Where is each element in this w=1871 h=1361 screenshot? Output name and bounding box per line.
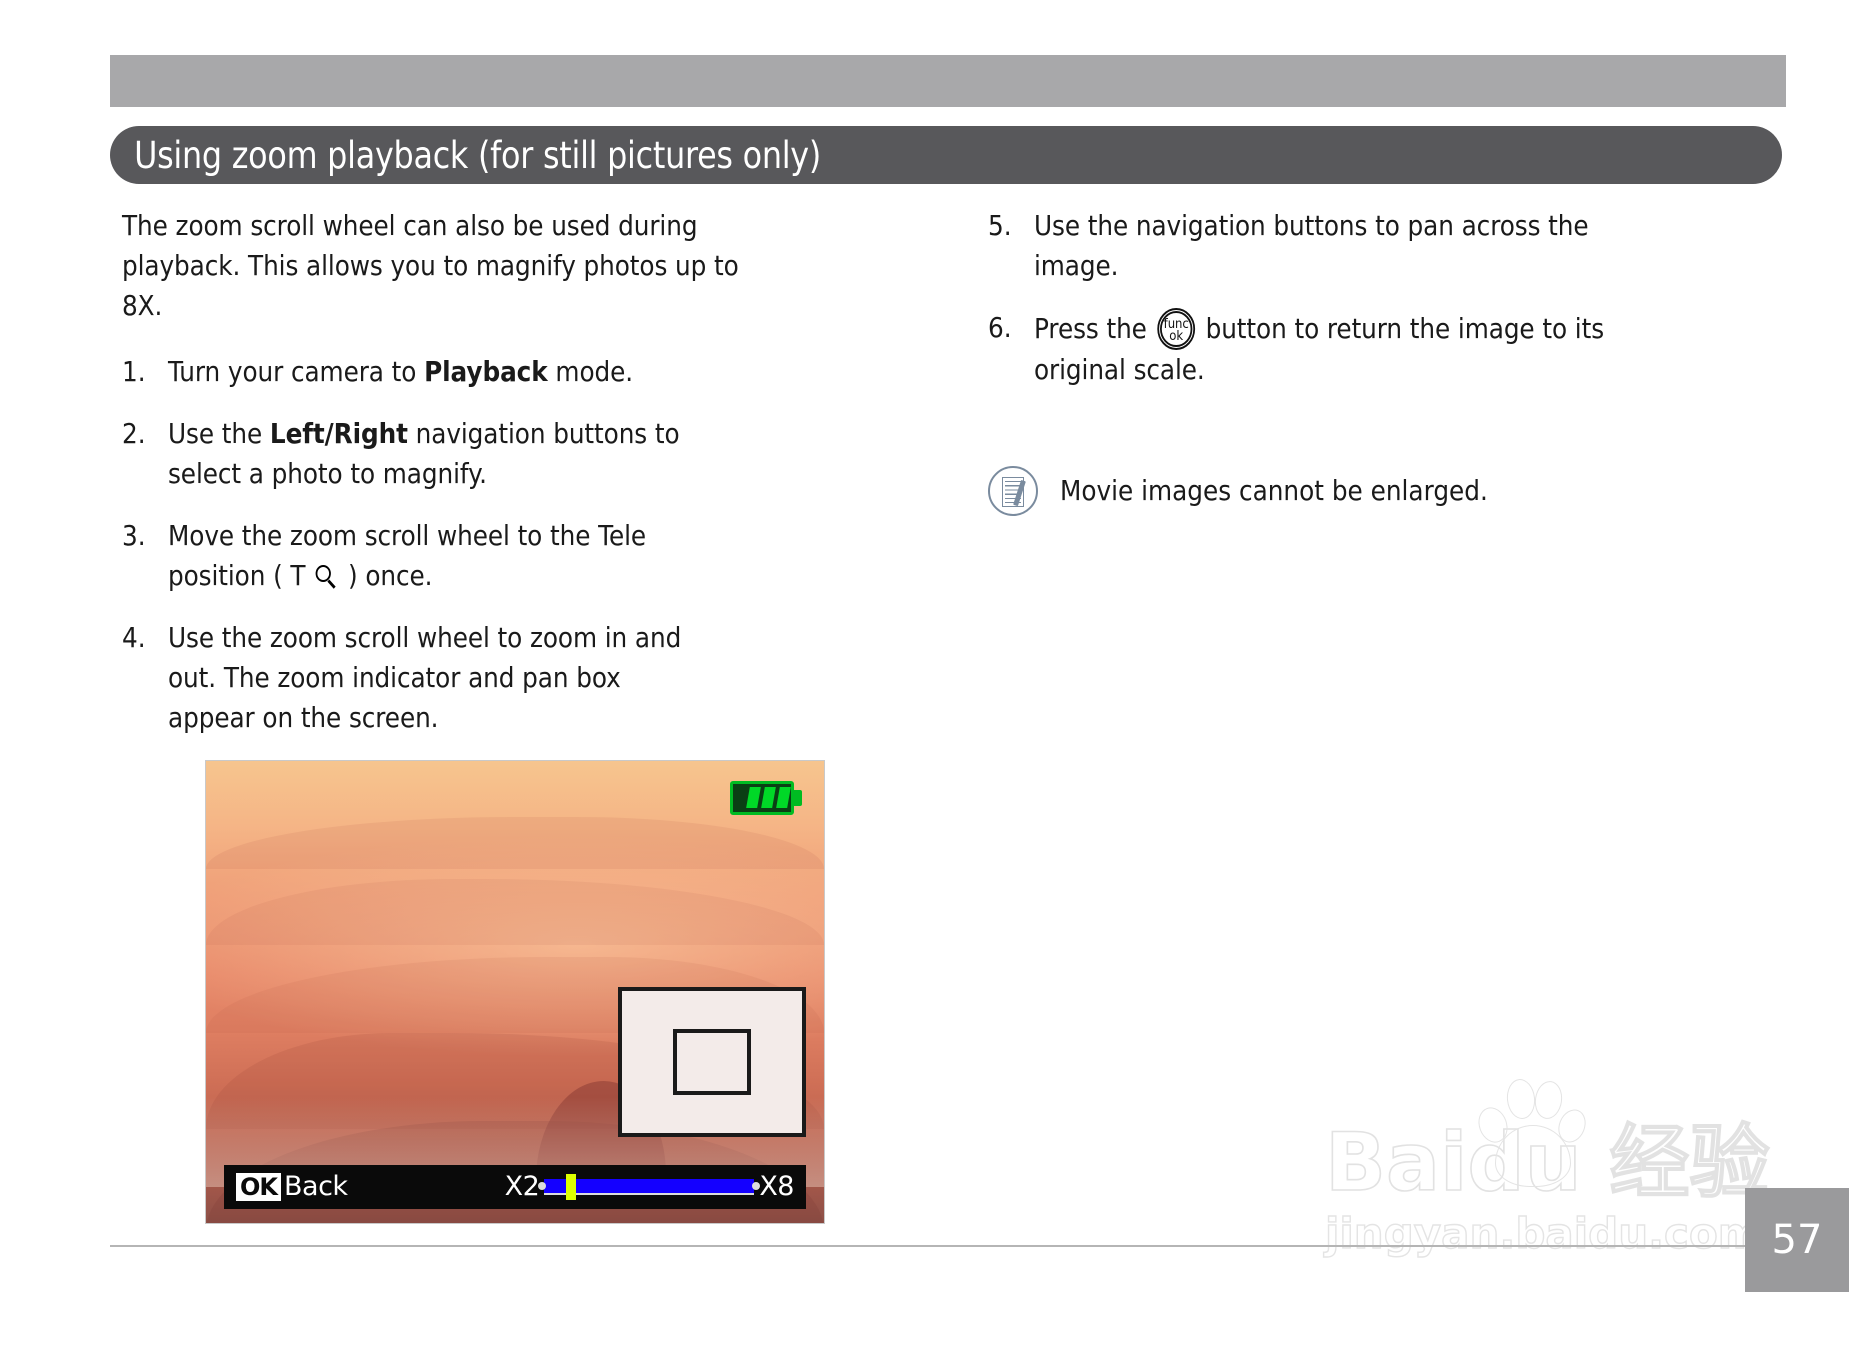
step-text-bold: Left/Right <box>270 418 408 450</box>
intro-paragraph: The zoom scroll wheel can also be used d… <box>122 206 761 326</box>
steps-list-right: 5. Use the navigation buttons to pan acr… <box>988 206 1688 390</box>
baidu-watermark: Baidu 经验 jingyan.baidu.com <box>1325 1075 1795 1290</box>
watermark-brand: Baidu 经验 <box>1325 1123 1769 1203</box>
step-number: 1. <box>122 352 163 392</box>
right-column: 5. Use the navigation buttons to pan acr… <box>988 206 1688 390</box>
step-text-after: mode. <box>548 356 633 388</box>
zoom-slider-track[interactable] <box>544 1179 754 1195</box>
step-text: Use the zoom scroll wheel to zoom in and… <box>168 618 703 738</box>
step-text-before: Use the <box>168 418 270 450</box>
pan-box-inner-frame <box>673 1029 751 1095</box>
zoom-min-label: X2 <box>505 1172 540 1202</box>
list-item: 2. Use the Left/Right navigation buttons… <box>122 414 762 494</box>
step-text: Move the zoom scroll wheel to the Tele p… <box>168 516 703 596</box>
pan-box-indicator <box>618 987 806 1137</box>
mountain-ridge <box>206 817 824 869</box>
step-text-before: Press the <box>1034 313 1155 345</box>
note-text: Movie images cannot be enlarged. <box>1060 473 1488 509</box>
steps-list-left: 1. Turn your camera to Playback mode. 2.… <box>122 352 762 738</box>
list-item: 6. Press the funcok button to return the… <box>988 308 1688 390</box>
step-text-before: Turn your camera to <box>168 356 424 388</box>
left-column: The zoom scroll wheel can also be used d… <box>122 206 762 738</box>
footer-divider <box>110 1245 1786 1247</box>
step-text: Press the funcok button to return the im… <box>1034 308 1623 390</box>
camera-lcd-screenshot: OK Back X2 X8 <box>205 760 825 1224</box>
list-item: 3. Move the zoom scroll wheel to the Tel… <box>122 516 762 596</box>
zoom-slider-thumb[interactable] <box>566 1174 576 1200</box>
page-title-banner: Using zoom playback (for still pictures … <box>110 126 1782 184</box>
step-number: 6. <box>988 308 1029 390</box>
step-number: 4. <box>122 618 163 738</box>
ok-badge: OK <box>236 1173 281 1201</box>
step-text-bold: Playback <box>424 356 548 388</box>
zoom-max-label: X8 <box>759 1172 794 1202</box>
watermark-url: jingyan.baidu.com <box>1325 1213 1762 1255</box>
note-callout: Movie images cannot be enlarged. <box>988 466 1535 516</box>
step-text: Use the Left/Right navigation buttons to… <box>168 414 703 494</box>
zoom-indicator: X2 X8 <box>505 1172 794 1202</box>
mountain-ridge <box>206 879 824 945</box>
header-decorative-bar <box>110 55 1786 107</box>
step-number: 3. <box>122 516 163 596</box>
magnifier-icon <box>315 564 338 590</box>
baidu-paw-icon <box>1477 1075 1583 1187</box>
lcd-status-bar: OK Back X2 X8 <box>224 1165 806 1209</box>
step-text-after: ) once. <box>340 560 432 592</box>
notepad-icon <box>988 466 1038 516</box>
func-ok-button-icon: funcok <box>1157 308 1195 350</box>
step-text: Turn your camera to Playback mode. <box>168 352 703 392</box>
step-number: 5. <box>988 206 1029 286</box>
list-item: 1. Turn your camera to Playback mode. <box>122 352 762 392</box>
page-title: Using zoom playback (for still pictures … <box>110 134 821 177</box>
step-number: 2. <box>122 414 163 494</box>
list-item: 4. Use the zoom scroll wheel to zoom in … <box>122 618 762 738</box>
battery-full-icon <box>730 781 802 815</box>
step-text: Use the navigation buttons to pan across… <box>1034 206 1623 286</box>
ok-label: ok <box>1157 330 1195 343</box>
page-number-badge: 57 <box>1745 1188 1849 1292</box>
back-label: Back <box>284 1172 348 1202</box>
list-item: 5. Use the navigation buttons to pan acr… <box>988 206 1688 286</box>
